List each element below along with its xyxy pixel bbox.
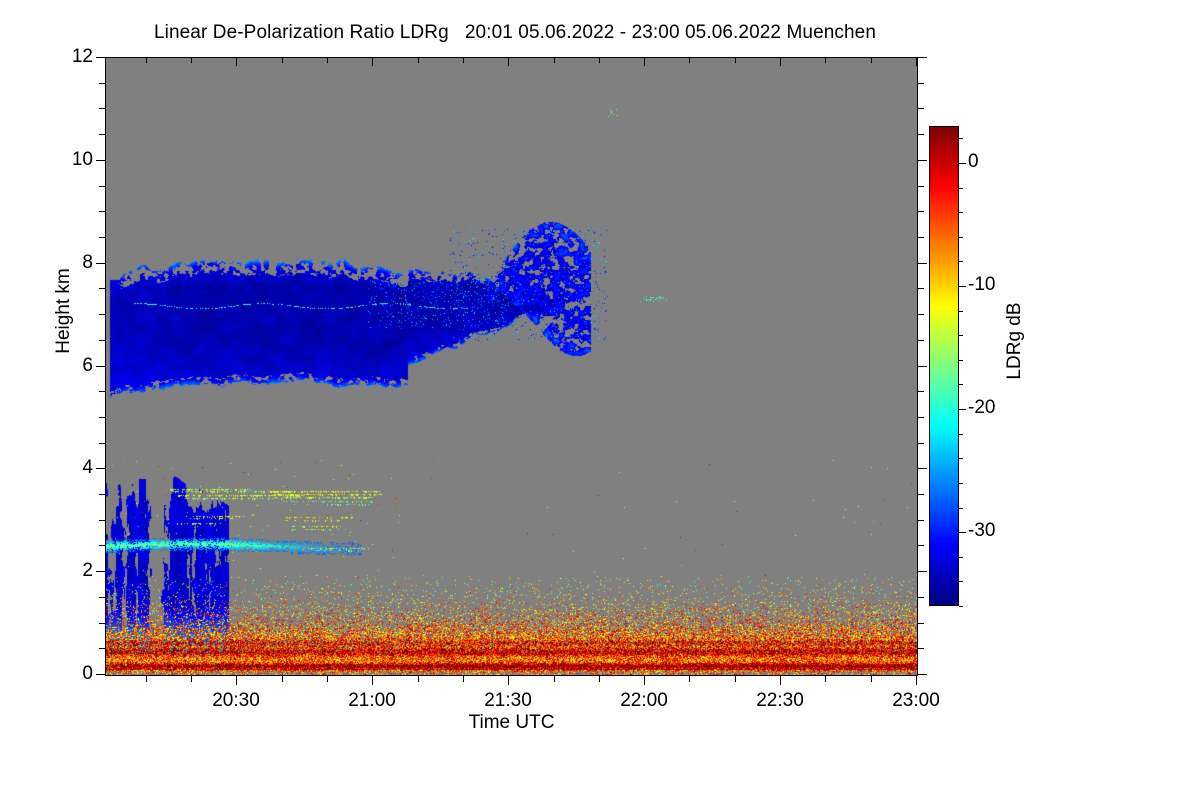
y-tick-major (96, 57, 105, 58)
x-tick-minor-top (689, 57, 690, 63)
y-tick-major-right (918, 263, 927, 264)
y-tick-minor-right (918, 391, 924, 392)
y-tick-minor (99, 417, 105, 418)
y-tick-major (96, 160, 105, 161)
x-axis-title: Time UTC (105, 712, 918, 734)
y-tick-minor (99, 83, 105, 84)
y-tick-label: 10 (33, 150, 93, 169)
x-tick-major (372, 676, 373, 685)
y-tick-minor-right (918, 314, 924, 315)
y-tick-label: 4 (33, 458, 93, 477)
y-tick-minor (99, 314, 105, 315)
x-tick-label: 21:30 (448, 690, 568, 712)
x-tick-major (780, 676, 781, 685)
colorbar-tick-major (959, 532, 966, 533)
x-tick-minor (599, 676, 600, 682)
y-tick-minor-right (918, 83, 924, 84)
x-tick-minor (871, 676, 872, 682)
y-tick-label: 12 (33, 47, 93, 66)
y-tick-minor-right (918, 288, 924, 289)
y-tick-major-right (918, 57, 927, 58)
y-tick-major-right (918, 366, 927, 367)
x-tick-label: 21:00 (312, 690, 432, 712)
y-tick-label: 6 (33, 356, 93, 375)
x-tick-label: 22:00 (584, 690, 704, 712)
x-tick-minor (282, 676, 283, 682)
colorbar-tick-minor (959, 384, 963, 385)
y-tick-minor (99, 520, 105, 521)
colorbar-tick-minor (959, 557, 963, 558)
colorbar-tick-minor (959, 212, 963, 213)
y-tick-minor-right (918, 648, 924, 649)
y-tick-minor (99, 443, 105, 444)
x-tick-major-top (916, 57, 917, 66)
x-tick-minor (825, 676, 826, 682)
colorbar-tick-minor (959, 237, 963, 238)
colorbar-gradient (929, 126, 959, 606)
colorbar-title: LDRg dB (1004, 261, 1026, 421)
y-tick-major (96, 468, 105, 469)
chart-page: Linear De-Polarization Ratio LDRg 20:01 … (0, 0, 1200, 800)
x-tick-minor-top (146, 57, 147, 63)
x-tick-minor-top (191, 57, 192, 63)
x-tick-minor (191, 676, 192, 682)
colorbar-tick-minor (959, 581, 963, 582)
radar-heatmap (106, 58, 917, 675)
plot-area (105, 57, 918, 676)
x-tick-minor (554, 676, 555, 682)
colorbar-tick-minor (959, 434, 963, 435)
colorbar-tick-minor (959, 458, 963, 459)
y-tick-minor (99, 134, 105, 135)
y-tick-minor-right (918, 623, 924, 624)
colorbar-tick-minor (959, 483, 963, 484)
colorbar-tick-minor (959, 311, 963, 312)
y-tick-major (96, 571, 105, 572)
y-tick-major (96, 366, 105, 367)
x-tick-minor (327, 676, 328, 682)
x-tick-major (508, 676, 509, 685)
y-tick-label: 8 (33, 253, 93, 272)
y-tick-major (96, 674, 105, 675)
y-tick-minor-right (918, 545, 924, 546)
y-tick-minor (99, 545, 105, 546)
x-tick-major-top (236, 57, 237, 66)
y-tick-minor-right (918, 494, 924, 495)
y-tick-major-right (918, 571, 927, 572)
x-tick-minor-top (825, 57, 826, 63)
colorbar-tick-minor (959, 138, 963, 139)
y-tick-minor (99, 211, 105, 212)
y-tick-minor (99, 623, 105, 624)
y-tick-minor-right (918, 237, 924, 238)
x-tick-minor (418, 676, 419, 682)
colorbar-tick-label: 0 (968, 152, 979, 171)
x-tick-label: 22:30 (720, 690, 840, 712)
x-tick-major (644, 676, 645, 685)
y-tick-minor-right (918, 186, 924, 187)
x-tick-minor-top (871, 57, 872, 63)
x-tick-minor-top (282, 57, 283, 63)
colorbar (929, 126, 959, 606)
y-tick-minor (99, 237, 105, 238)
x-tick-major-top (508, 57, 509, 66)
y-tick-minor (99, 108, 105, 109)
x-tick-minor (146, 676, 147, 682)
x-tick-minor-top (554, 57, 555, 63)
y-tick-major-right (918, 468, 927, 469)
x-tick-label: 23:00 (856, 690, 976, 712)
x-tick-major-top (372, 57, 373, 66)
colorbar-tick-label: -10 (968, 275, 995, 294)
x-tick-minor (735, 676, 736, 682)
colorbar-tick-minor (959, 261, 963, 262)
x-tick-minor (463, 676, 464, 682)
y-tick-label: 0 (33, 664, 93, 683)
x-tick-major-top (644, 57, 645, 66)
x-tick-label: 20:30 (176, 690, 296, 712)
colorbar-tick-minor (959, 508, 963, 509)
x-tick-minor-top (599, 57, 600, 63)
x-tick-major (236, 676, 237, 685)
colorbar-tick-label: -20 (968, 398, 995, 417)
colorbar-tick-minor (959, 360, 963, 361)
x-tick-minor-top (327, 57, 328, 63)
colorbar-tick-major (959, 286, 966, 287)
y-tick-minor-right (918, 443, 924, 444)
y-tick-minor-right (918, 417, 924, 418)
y-tick-minor (99, 186, 105, 187)
x-tick-minor-top (418, 57, 419, 63)
y-tick-minor (99, 288, 105, 289)
y-tick-minor-right (918, 211, 924, 212)
x-tick-major-top (780, 57, 781, 66)
y-tick-minor-right (918, 108, 924, 109)
x-tick-minor-top (463, 57, 464, 63)
colorbar-tick-major (959, 163, 966, 164)
y-tick-major (96, 263, 105, 264)
y-tick-minor (99, 597, 105, 598)
colorbar-tick-minor (959, 188, 963, 189)
x-tick-major (916, 676, 917, 685)
y-tick-minor (99, 494, 105, 495)
y-tick-minor-right (918, 134, 924, 135)
y-tick-minor-right (918, 520, 924, 521)
colorbar-tick-minor (959, 606, 963, 607)
colorbar-tick-major (959, 409, 966, 410)
y-tick-minor (99, 391, 105, 392)
y-tick-minor-right (918, 340, 924, 341)
y-tick-minor-right (918, 597, 924, 598)
y-tick-minor (99, 648, 105, 649)
y-tick-major-right (918, 674, 927, 675)
colorbar-tick-label: -30 (968, 521, 995, 540)
colorbar-tick-minor (959, 335, 963, 336)
x-tick-minor (689, 676, 690, 682)
page-title: Linear De-Polarization Ratio LDRg 20:01 … (0, 22, 1030, 44)
y-tick-minor (99, 340, 105, 341)
y-tick-label: 2 (33, 561, 93, 580)
y-tick-major-right (918, 160, 927, 161)
x-tick-minor-top (735, 57, 736, 63)
